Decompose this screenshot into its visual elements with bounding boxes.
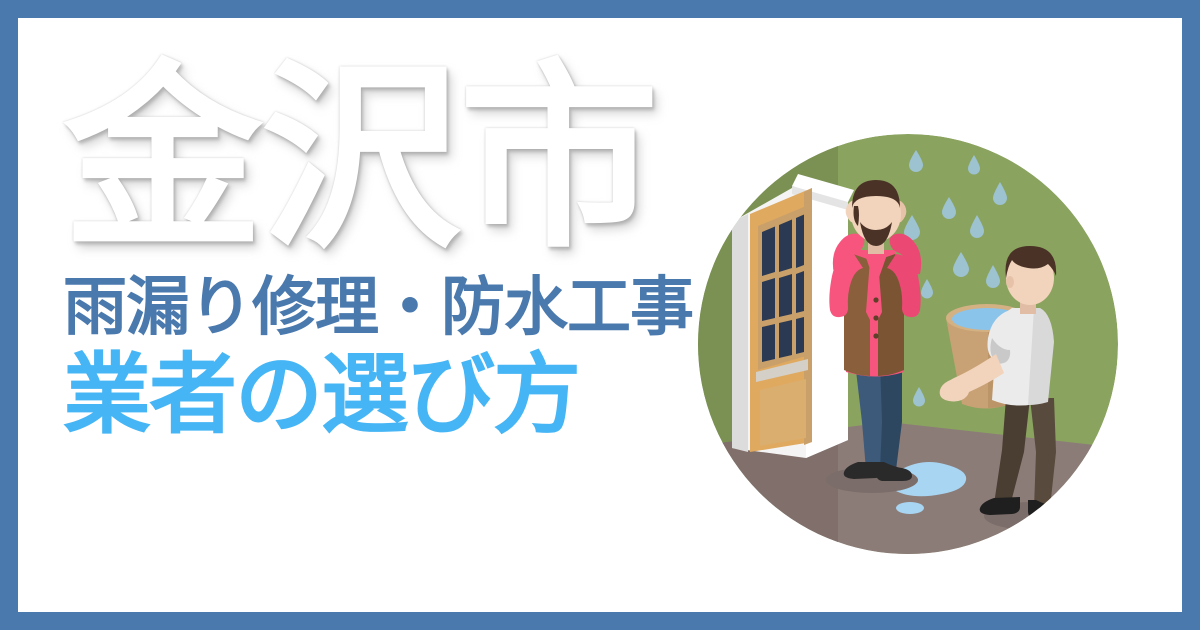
headline-how-to-choose: 業者の選び方 <box>63 349 723 441</box>
door-glass-pane <box>762 227 775 277</box>
man1-vest-button <box>873 315 878 320</box>
door-glass-pane <box>796 317 804 354</box>
door-casing-left-shade <box>732 214 748 452</box>
headline-text-block: 金沢市 雨漏り修理・防水工事 業者の選び方 <box>63 60 723 442</box>
door-lower-panel <box>760 379 806 446</box>
rain-leak-illustration-svg <box>688 122 1128 562</box>
scene-clip-group <box>688 122 1128 562</box>
door-glass-pane <box>779 320 792 358</box>
door-glass-pane <box>779 220 792 273</box>
man2-ear <box>1006 276 1014 288</box>
man1-vest-button <box>873 333 878 338</box>
page-title-city-name: 金沢市 <box>63 60 723 260</box>
man1-vest-button <box>873 297 878 302</box>
door-glass-pane <box>762 278 775 321</box>
banner-root: 金沢市 雨漏り修理・防水工事 業者の選び方 <box>0 0 1200 630</box>
door-glass-pane <box>796 271 804 313</box>
banner-inner-panel: 金沢市 雨漏り修理・防水工事 業者の選び方 <box>18 18 1182 612</box>
rain-leak-illustration <box>688 122 1128 562</box>
door-casing-face <box>806 180 848 458</box>
door-glass-pane <box>796 215 804 269</box>
puddle-droplet-small <box>896 502 924 514</box>
man2-shoe-front <box>1028 500 1064 519</box>
door-glass-pane <box>762 324 775 362</box>
door-glass-pane <box>779 274 792 317</box>
subtitle-service-description: 雨漏り修理・防水工事 <box>63 274 723 341</box>
